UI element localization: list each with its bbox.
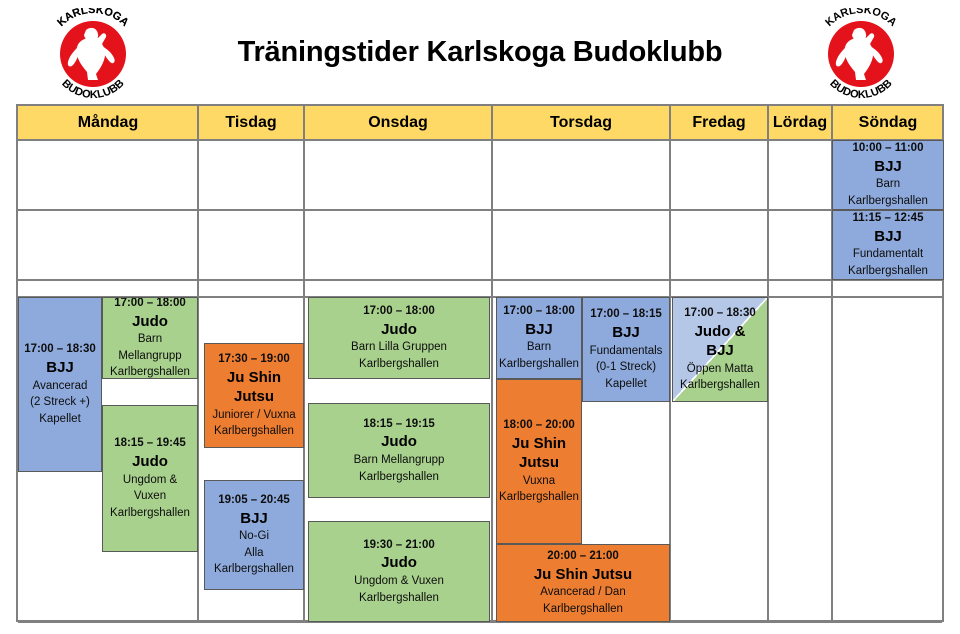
class-group: Ungdom & Vuxen xyxy=(354,573,444,590)
class-venue: Karlbergshallen xyxy=(359,469,439,486)
class-time: 18:00 – 20:00 xyxy=(503,417,575,434)
class-venue: Kapellet xyxy=(605,376,647,393)
class-time: 18:15 – 19:15 xyxy=(363,416,435,433)
class-time: 18:15 – 19:45 xyxy=(114,435,186,452)
class-venue: Karlbergshallen xyxy=(680,377,760,394)
row-divider-3 xyxy=(18,279,942,281)
class-block[interactable]: 17:00 – 18:30BJJAvancerad(2 Streck +)Kap… xyxy=(18,297,102,472)
class-block[interactable]: 17:00 – 18:00BJJBarnKarlbergshallen xyxy=(496,297,582,379)
class-group: Barn xyxy=(876,176,900,193)
class-venue: Karlbergshallen xyxy=(848,263,928,280)
class-venue: Karlbergshallen xyxy=(848,193,928,210)
day-header-onsdag[interactable]: Onsdag xyxy=(304,106,492,140)
class-block[interactable]: 18:15 – 19:15JudoBarn MellangruppKarlber… xyxy=(308,403,490,498)
class-block[interactable]: 17:30 – 19:00Ju Shin JutsuJuniorer / Vux… xyxy=(204,343,304,448)
class-group-line2: Vuxen xyxy=(134,488,166,505)
class-block[interactable]: 18:00 – 20:00Ju ShinJutsuVuxnaKarlbergsh… xyxy=(496,379,582,544)
class-time: 17:00 – 18:30 xyxy=(24,341,96,358)
class-group-line2: (2 Streck +) xyxy=(30,394,90,411)
column-divider-3 xyxy=(491,106,493,620)
class-time: 20:00 – 21:00 xyxy=(547,548,619,565)
class-group: Avancerad xyxy=(33,378,88,395)
class-title: Judo xyxy=(381,432,417,452)
class-group: Barn xyxy=(527,339,551,356)
row-divider-2 xyxy=(18,209,942,211)
day-header-måndag[interactable]: Måndag xyxy=(18,106,198,140)
day-header-torsdag[interactable]: Torsdag xyxy=(492,106,670,140)
class-venue: Karlbergshallen xyxy=(543,601,623,618)
class-title: Judo xyxy=(132,452,168,472)
class-title: BJJ xyxy=(874,157,902,177)
class-time: 11:15 – 12:45 xyxy=(853,210,924,227)
class-venue: Karlbergshallen xyxy=(110,505,190,522)
class-title: Ju Shin Jutsu xyxy=(208,368,300,407)
class-time: 17:00 – 18:00 xyxy=(363,303,435,320)
class-venue: Kapellet xyxy=(39,411,81,428)
class-group: Barn Mellangrupp xyxy=(354,452,445,469)
class-title-line2: Jutsu xyxy=(519,453,559,473)
class-block[interactable]: 17:00 – 18:00JudoBarnMellangruppKarlberg… xyxy=(102,297,198,379)
class-block[interactable]: 11:15 – 12:45BJJFundamentaltKarlbergshal… xyxy=(832,210,944,280)
class-group: Fundamentalt xyxy=(853,246,923,263)
class-venue: Karlbergshallen xyxy=(359,356,439,373)
day-header-lördag[interactable]: Lördag xyxy=(768,106,832,140)
class-title: BJJ xyxy=(46,358,74,378)
class-venue: Karlbergshallen xyxy=(214,423,294,440)
club-logo-right: KARLSKOGA BUDOKLUBB xyxy=(808,8,914,100)
class-title: Ju Shin Jutsu xyxy=(534,565,632,585)
class-block[interactable]: 10:00 – 11:00BJJBarnKarlbergshallen xyxy=(832,140,944,210)
class-time: 10:00 – 11:00 xyxy=(853,140,924,157)
class-time: 17:00 – 18:00 xyxy=(503,303,575,320)
class-venue: Karlbergshallen xyxy=(359,590,439,607)
class-time: 19:05 – 20:45 xyxy=(218,492,290,509)
class-group-line2: (0-1 Streck) xyxy=(596,359,656,376)
class-group: Ungdom & xyxy=(123,472,177,489)
class-venue: Karlbergshallen xyxy=(499,489,579,506)
class-title: Judo & xyxy=(695,322,746,342)
class-title: BJJ xyxy=(874,227,902,247)
class-venue: Karlbergshallen xyxy=(214,561,294,578)
class-block[interactable]: 20:00 – 21:00Ju Shin JutsuAvancerad / Da… xyxy=(496,544,670,622)
row-divider-1 xyxy=(18,139,942,141)
class-group: Avancerad / Dan xyxy=(540,584,625,601)
class-block[interactable]: 17:00 – 18:15BJJFundamentals(0-1 Streck)… xyxy=(582,297,670,402)
class-venue: Karlbergshallen xyxy=(110,364,190,379)
class-title: Judo xyxy=(381,320,417,340)
class-block[interactable]: 19:05 – 20:45BJJNo-GiAllaKarlbergshallen xyxy=(204,480,304,590)
day-header-fredag[interactable]: Fredag xyxy=(670,106,768,140)
class-group-line2: Mellangrupp xyxy=(118,348,181,365)
class-time: 19:30 – 21:00 xyxy=(363,537,435,554)
class-time: 17:00 – 18:15 xyxy=(590,306,662,323)
club-logo-left: KARLSKOGA KARLSKOGA BUDOKLUBB xyxy=(40,8,146,100)
class-block[interactable]: 18:15 – 19:45JudoUngdom &VuxenKarlbergsh… xyxy=(102,405,198,552)
class-title-line2: BJJ xyxy=(706,341,734,361)
class-group: No-Gi xyxy=(239,528,269,545)
class-title: Ju Shin xyxy=(512,434,566,454)
day-header-row: MåndagTisdagOnsdagTorsdagFredagLördagSön… xyxy=(18,106,942,140)
schedule-table: MåndagTisdagOnsdagTorsdagFredagLördagSön… xyxy=(16,104,944,622)
class-group: Vuxna xyxy=(523,473,555,490)
class-title: BJJ xyxy=(525,320,553,340)
class-block[interactable]: 19:30 – 21:00JudoUngdom & VuxenKarlbergs… xyxy=(308,521,490,622)
class-group: Fundamentals xyxy=(590,343,663,360)
class-title: BJJ xyxy=(612,323,640,343)
class-block[interactable]: 17:00 – 18:00JudoBarn Lilla GruppenKarlb… xyxy=(308,297,490,379)
class-time: 17:30 – 19:00 xyxy=(218,351,290,368)
class-time: 17:00 – 18:30 xyxy=(684,305,756,322)
page-title: Träningstider Karlskoga Budoklubb xyxy=(160,36,800,69)
class-group-line2: Alla xyxy=(244,545,263,562)
class-group: Juniorer / Vuxna xyxy=(212,407,295,424)
class-venue: Karlbergshallen xyxy=(499,356,579,373)
day-header-tisdag[interactable]: Tisdag xyxy=(198,106,304,140)
class-group: Barn xyxy=(138,331,162,348)
class-group: Öppen Matta xyxy=(687,361,753,378)
class-title: BJJ xyxy=(240,509,268,529)
class-time: 17:00 – 18:00 xyxy=(114,297,186,312)
day-header-söndag[interactable]: Söndag xyxy=(832,106,944,140)
class-title: Judo xyxy=(381,553,417,573)
page-header: KARLSKOGA KARLSKOGA BUDOKLUBB Träningsti… xyxy=(0,0,960,104)
class-block[interactable]: 17:00 – 18:30Judo &BJJÖppen MattaKarlber… xyxy=(672,297,768,402)
class-title: Judo xyxy=(132,312,168,332)
class-group: Barn Lilla Gruppen xyxy=(351,339,447,356)
